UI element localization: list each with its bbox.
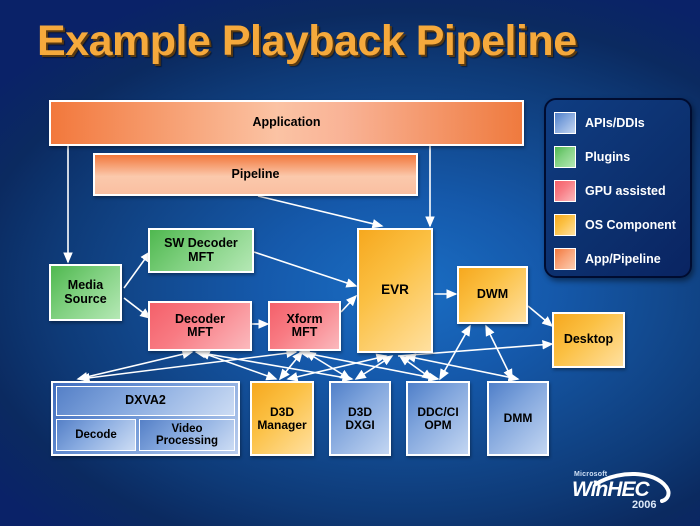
box-desktop[interactable]: Desktop <box>552 312 625 368</box>
legend-swatch-apis-ddis <box>554 112 576 134</box>
legend-label-os-component: OS Component <box>585 218 676 232</box>
box-sw-decoder-mft-line2: MFT <box>188 251 214 264</box>
box-decoder-mft[interactable]: Decoder MFT <box>148 301 252 351</box>
box-video-processing-line2: Processing <box>156 435 218 447</box>
logo-brand: Microsoft <box>574 471 607 478</box>
legend-label-plugins: Plugins <box>585 150 630 164</box>
legend-label-app-pipeline: App/Pipeline <box>585 252 661 266</box>
box-d3d-dxgi[interactable]: D3D DXGI <box>329 381 391 456</box>
box-dwm[interactable]: DWM <box>457 266 528 324</box>
box-dxva2-header: DXVA2 <box>56 386 235 416</box>
box-video-processing-line1: Video <box>171 423 202 435</box>
box-dxva2-label: DXVA2 <box>125 394 166 407</box>
box-application[interactable]: Application <box>49 100 524 146</box>
box-xform-mft[interactable]: Xform MFT <box>268 301 341 351</box>
legend-swatch-plugins <box>554 146 576 168</box>
legend-item-os-component[interactable]: OS Component <box>546 208 690 242</box>
box-media-source-line1: Media <box>68 279 103 292</box>
legend-panel: APIs/DDIs Plugins GPU assisted OS Compon… <box>544 98 692 278</box>
box-ddc-ci-opm-line1: DDC/CI <box>417 406 458 419</box>
box-application-label: Application <box>252 116 320 129</box>
box-d3d-dxgi-line1: D3D <box>348 406 372 419</box>
box-video-processing[interactable]: Video Processing <box>139 419 235 451</box>
legend-item-plugins[interactable]: Plugins <box>546 140 690 174</box>
box-media-source[interactable]: Media Source <box>49 264 122 321</box>
box-dmm-label: DMM <box>504 412 533 425</box>
box-sw-decoder-mft[interactable]: SW Decoder MFT <box>148 228 254 273</box>
legend-label-gpu-assisted: GPU assisted <box>585 184 666 198</box>
box-xform-mft-line2: MFT <box>292 326 318 339</box>
slide-canvas: Example Playback Pipeline <box>0 0 700 526</box>
logo-year: 2006 <box>632 499 656 511</box>
legend-item-app-pipeline[interactable]: App/Pipeline <box>546 242 690 276</box>
box-d3d-manager[interactable]: D3D Manager <box>250 381 314 456</box>
box-decoder-mft-line2: MFT <box>187 326 213 339</box>
legend-item-gpu-assisted[interactable]: GPU assisted <box>546 174 690 208</box>
legend-swatch-os-component <box>554 214 576 236</box>
box-d3d-dxgi-line2: DXGI <box>345 419 374 432</box>
box-ddc-ci-opm[interactable]: DDC/CI OPM <box>406 381 470 456</box>
box-dxva2[interactable]: DXVA2 Decode Video Processing <box>51 381 240 456</box>
box-d3d-manager-line2: Manager <box>257 419 306 432</box>
box-sw-decoder-mft-line1: SW Decoder <box>164 237 238 250</box>
box-ddc-ci-opm-line2: OPM <box>424 419 451 432</box>
winhec-logo: Microsoft WinHEC 2006 <box>568 470 686 515</box>
box-pipeline-label: Pipeline <box>232 168 280 181</box>
box-dwm-label: DWM <box>477 288 508 301</box>
box-media-source-line2: Source <box>64 293 106 306</box>
box-d3d-manager-line1: D3D <box>270 406 294 419</box>
legend-swatch-app-pipeline <box>554 248 576 270</box>
box-evr[interactable]: EVR <box>357 228 433 353</box>
box-decode[interactable]: Decode <box>56 419 136 451</box>
box-pipeline[interactable]: Pipeline <box>93 153 418 196</box>
legend-swatch-gpu-assisted <box>554 180 576 202</box>
box-desktop-label: Desktop <box>564 333 613 346</box>
box-evr-label: EVR <box>381 283 409 297</box>
legend-item-apis-ddis[interactable]: APIs/DDIs <box>546 106 690 140</box>
box-dmm[interactable]: DMM <box>487 381 549 456</box>
legend-label-apis-ddis: APIs/DDIs <box>585 116 645 130</box>
box-decode-label: Decode <box>75 429 117 441</box>
